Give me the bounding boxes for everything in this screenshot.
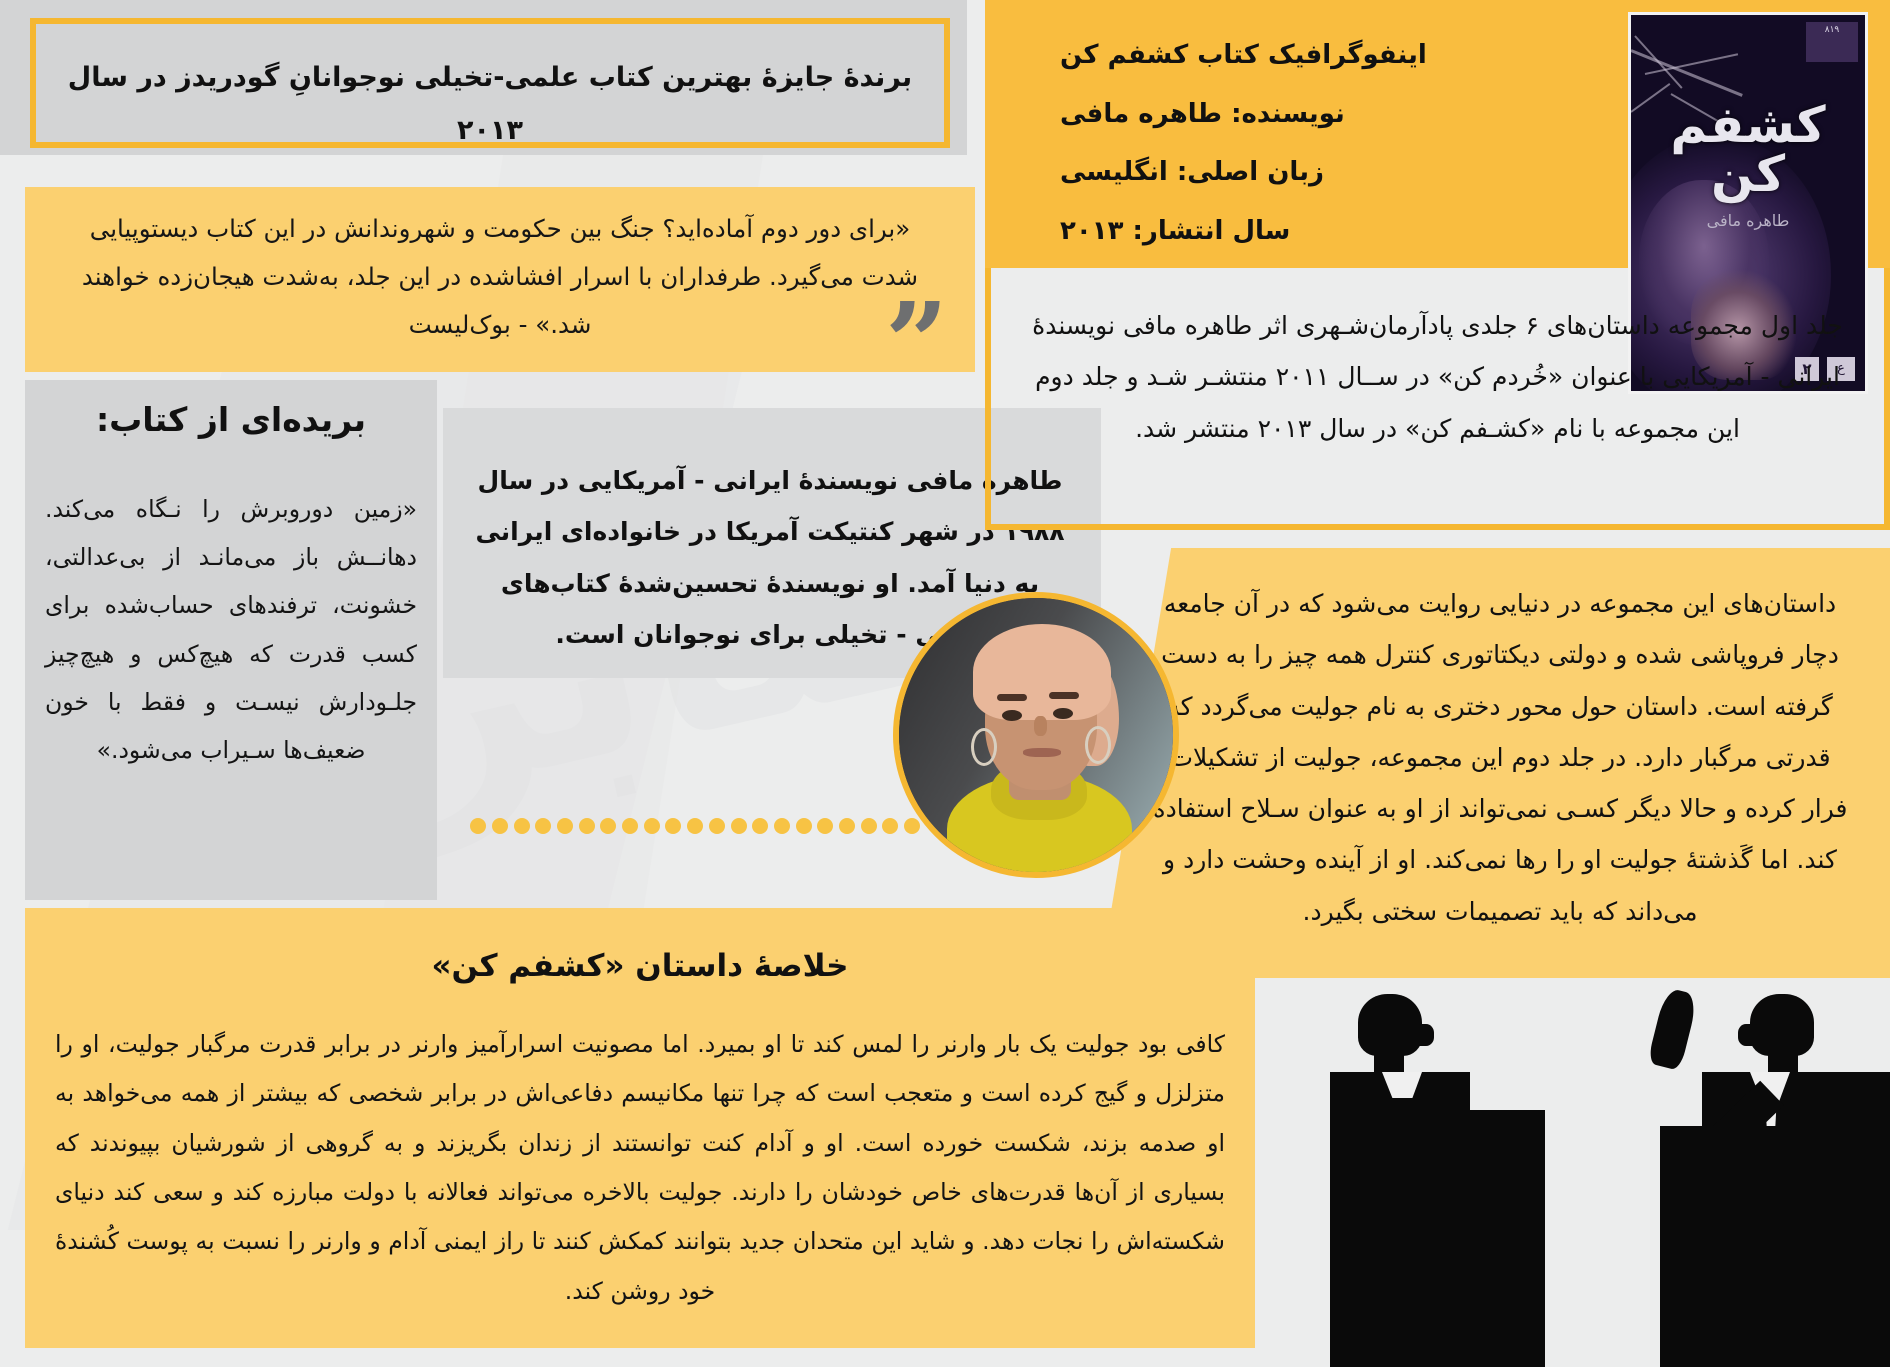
- header-language: زبان اصلی: انگلیسی: [1060, 143, 1580, 202]
- divider-dot: [622, 818, 638, 834]
- photo-mouth: [1023, 748, 1061, 757]
- hoop-earring-icon: [971, 728, 997, 766]
- cover-publisher-badge: ۸۱۹: [1806, 22, 1858, 62]
- divider-dot: [600, 818, 616, 834]
- divider-dot: [492, 818, 508, 834]
- debate-silhouette-illustration: [1330, 980, 1890, 1367]
- infographic-root: کتابراه برندهٔ جایزهٔ بهترین کتاب علمی-ت…: [0, 0, 1890, 1367]
- divider-dot: [839, 818, 855, 834]
- header-year: سال انتشار: ۲۰۱۳: [1060, 202, 1580, 261]
- podium-top-left: [1384, 1098, 1432, 1122]
- review-quote-text: «برای دور دوم آماده‌اید؟ جنگ بین حکومت و…: [60, 205, 940, 348]
- divider-dot: [579, 818, 595, 834]
- dotted-divider: [470, 818, 920, 836]
- divider-dot: [774, 818, 790, 834]
- book-excerpt-text: «زمین دوروبرش را نـگاه می‌کند. دهانــش ب…: [45, 485, 417, 774]
- quotation-mark-icon: ”: [885, 310, 948, 376]
- divider-dot: [752, 818, 768, 834]
- hoop-earring-icon: [1085, 726, 1111, 764]
- header-meta-list: اینفوگرافیک کتاب کشفم کن نویسنده: طاهره …: [1060, 26, 1580, 260]
- story-summary-title: خلاصهٔ داستان «کشفم کن»: [60, 948, 1220, 984]
- cover-author-text: طاهره مافی: [1631, 211, 1865, 230]
- photo-nose: [1034, 716, 1047, 736]
- silhouette-nose-left: [1414, 1024, 1434, 1046]
- divider-dot: [557, 818, 573, 834]
- divider-dot: [817, 818, 833, 834]
- author-photo-avatar: [893, 592, 1179, 878]
- divider-dot: [470, 818, 486, 834]
- silhouette-nose-right: [1738, 1024, 1758, 1046]
- divider-dot: [644, 818, 660, 834]
- divider-dot: [535, 818, 551, 834]
- plot-overview-text: داستان‌های این مجموعه در دنیایی روایت می…: [1150, 578, 1850, 937]
- divider-dot: [731, 818, 747, 834]
- photo-eyebrow: [997, 694, 1027, 701]
- divider-dot: [514, 818, 530, 834]
- divider-dot: [709, 818, 725, 834]
- divider-dot: [861, 818, 877, 834]
- story-summary-text: کافی بود جولیت یک بار وارنر را لمس کند ت…: [55, 1020, 1225, 1316]
- book-excerpt-title: بریده‌ای از کتاب:: [40, 400, 422, 439]
- page-title: اینفوگرافیک کتاب کشفم کن: [1060, 26, 1580, 85]
- divider-dot: [882, 818, 898, 834]
- divider-dot: [796, 818, 812, 834]
- photo-eye: [1002, 710, 1022, 721]
- podium-right: [1660, 1126, 1890, 1367]
- series-info-text: جلد اول مجموعه داستان‌های ۶ جلدی پادآرما…: [1015, 300, 1860, 454]
- cover-branch-icon: [1634, 35, 1682, 88]
- divider-dot: [665, 818, 681, 834]
- photo-eye: [1053, 708, 1073, 719]
- cover-title-text: کشفم کن: [1631, 101, 1865, 199]
- photo-eyebrow: [1049, 692, 1079, 699]
- silhouette-pointing-hand: [1647, 987, 1699, 1071]
- podium-left: [1330, 1110, 1545, 1367]
- divider-dot: [687, 818, 703, 834]
- photo-headwrap: [973, 624, 1111, 720]
- header-author: نویسنده: طاهره مافی: [1060, 85, 1580, 144]
- award-banner-text: برندهٔ جایزهٔ بهترین کتاب علمی-تخیلی نوج…: [40, 52, 940, 157]
